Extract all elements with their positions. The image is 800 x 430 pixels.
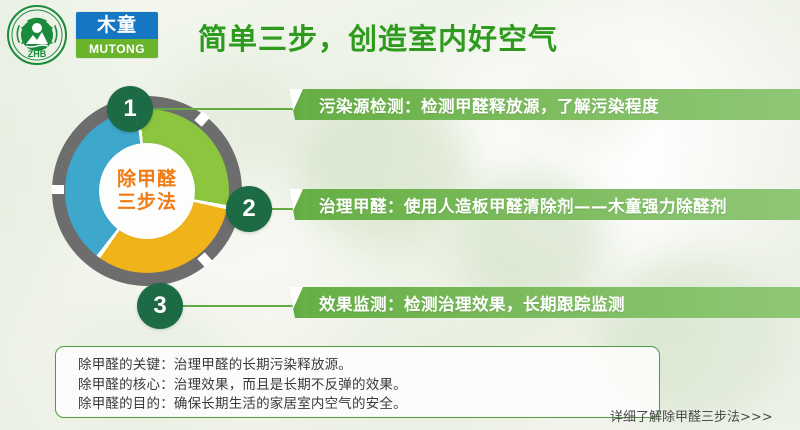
note-line-3: 除甲醛的目的：确保长期生活的家居室内空气的安全。 (78, 395, 659, 415)
mutong-logo: 木童 MUTONG (76, 12, 158, 58)
step-bar-wedge (289, 287, 303, 318)
step-marker-1[interactable]: 1 (107, 86, 153, 132)
step-bar-wedge (289, 189, 303, 220)
donut-center-label: 除甲醛 三步法 (99, 143, 195, 239)
note-line-2: 除甲醛的核心：治理效果，而且是长期不反弹的效果。 (78, 376, 659, 396)
three-step-donut-chart: 除甲醛 三步法 (52, 96, 242, 286)
donut-center-line-1: 除甲醛 (117, 168, 177, 191)
step-bar-body: 污染源检测：检测甲醛释放源，了解污染程度 (307, 89, 800, 120)
step-bar-text-3: 效果监测：检测治理效果，长期跟踪监测 (319, 291, 625, 315)
step-bar-3[interactable]: 效果监测：检测治理效果，长期跟踪监测 (289, 287, 800, 318)
step-bar-body: 效果监测：检测治理效果，长期跟踪监测 (307, 287, 800, 318)
zhb-emblem-icon: ZHB (6, 4, 68, 66)
step-marker-2[interactable]: 2 (226, 186, 272, 232)
mutong-logo-en: MUTONG (89, 43, 145, 55)
logo-group: ZHB 木童 MUTONG (6, 4, 158, 66)
step-bar-body: 治理甲醛：使用人造板甲醛清除剂——木童强力除醛剂 (307, 189, 800, 220)
step-bar-wedge (289, 89, 303, 120)
page-title: 简单三步，创造室内好空气 (198, 16, 628, 58)
connector-line-1 (150, 108, 295, 110)
step-bar-text-1: 污染源检测：检测甲醛释放源，了解污染程度 (319, 93, 659, 117)
note-line-1: 除甲醛的关键：治理甲醛的长期污染释放源。 (78, 356, 659, 376)
step-bar-text-2: 治理甲醛：使用人造板甲醛清除剂——木童强力除醛剂 (319, 193, 727, 217)
mutong-logo-bottom: MUTONG (76, 39, 158, 58)
more-details-link[interactable]: 详细了解除甲醛三步法>>> (610, 406, 773, 425)
donut-center-line-2: 三步法 (117, 191, 177, 214)
mutong-logo-top: 木童 (76, 12, 158, 39)
step-marker-3[interactable]: 3 (137, 283, 183, 329)
connector-line-3 (180, 305, 298, 307)
step-bar-2[interactable]: 治理甲醛：使用人造板甲醛清除剂——木童强力除醛剂 (289, 189, 800, 220)
summary-note-panel: 除甲醛的关键：治理甲醛的长期污染释放源。 除甲醛的核心：治理效果，而且是长期不反… (55, 346, 660, 418)
step-bar-tip (289, 189, 307, 220)
donut-ring-notch (52, 185, 64, 194)
mutong-logo-cn: 木童 (97, 16, 137, 35)
step-bar-1[interactable]: 污染源检测：检测甲醛释放源，了解污染程度 (289, 89, 800, 120)
step-bar-tip (289, 89, 307, 120)
step-bar-tip (289, 287, 307, 318)
slide-canvas: ZHB 木童 MUTONG 简单三步，创造室内好空气 除甲醛 三步法 1 2 3 (0, 0, 800, 430)
svg-text:ZHB: ZHB (28, 49, 47, 59)
